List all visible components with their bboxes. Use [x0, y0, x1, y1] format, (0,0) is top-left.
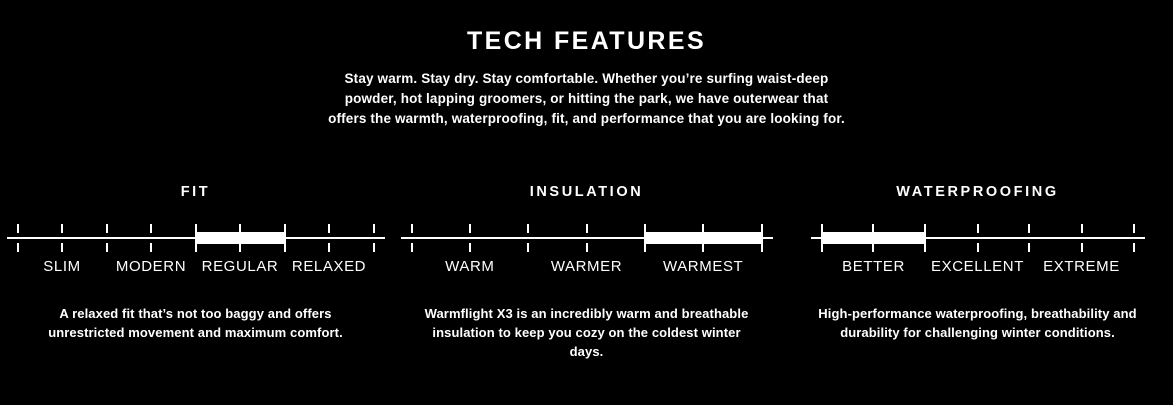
- scale-tick: [1133, 224, 1135, 233]
- scale-fill-edge: [821, 224, 823, 252]
- fit-scale-track: [18, 224, 374, 252]
- scale-tick: [150, 224, 152, 233]
- scale-tick: [1081, 243, 1083, 252]
- scale-tick: [1028, 224, 1030, 233]
- fit-scale-labels: SLIMMODERNREGULARRELAXED: [18, 258, 374, 280]
- page-title: TECH FEATURES: [0, 26, 1173, 56]
- waterproofing-scale-labels: BETTEREXCELLENTEXTREME: [822, 258, 1134, 280]
- scale-tick: [150, 243, 152, 252]
- scale-tick: [977, 243, 979, 252]
- scale-tick: [586, 224, 588, 233]
- scale-tick: [239, 243, 241, 252]
- scale-tick: [411, 243, 413, 252]
- fit-scale: SLIMMODERNREGULARRELAXED: [0, 224, 391, 282]
- scale-label-warmest[interactable]: WARMEST: [663, 258, 743, 275]
- waterproofing-scale-track: [822, 224, 1134, 252]
- scale-fill-edge: [644, 224, 646, 252]
- feature-title-fit: FIT: [0, 182, 391, 202]
- scale-label-modern[interactable]: MODERN: [116, 258, 186, 275]
- feature-panel-fit: FIT SLIMMODERNREGULARRELAXED A relaxed f…: [0, 182, 391, 342]
- scale-fill-bar[interactable]: [822, 232, 926, 244]
- scale-tick: [61, 224, 63, 233]
- scale-tick: [328, 224, 330, 233]
- scale-tick: [527, 243, 529, 252]
- scale-tick: [373, 243, 375, 252]
- scale-tick: [106, 224, 108, 233]
- scale-tick: [1081, 224, 1083, 233]
- scale-tick: [469, 243, 471, 252]
- scale-fill-bar[interactable]: [645, 232, 762, 244]
- scale-tick: [1028, 243, 1030, 252]
- page-header: TECH FEATURES Stay warm. Stay dry. Stay …: [0, 26, 1173, 129]
- scale-label-extreme[interactable]: EXTREME: [1043, 258, 1120, 275]
- feature-panel-waterproofing: WATERPROOFING BETTEREXCELLENTEXTREME Hig…: [782, 182, 1173, 342]
- scale-label-slim[interactable]: SLIM: [43, 258, 80, 275]
- scale-tick: [872, 243, 874, 252]
- feature-title-waterproofing: WATERPROOFING: [782, 182, 1173, 202]
- scale-tick: [61, 243, 63, 252]
- feature-description-waterproofing: High-performance waterproofing, breathab…: [813, 304, 1143, 342]
- scale-fill-edge: [284, 224, 286, 252]
- scale-tick: [328, 243, 330, 252]
- scale-fill-edge: [924, 224, 926, 252]
- scale-fill-bar[interactable]: [196, 232, 285, 244]
- tech-features-page: TECH FEATURES Stay warm. Stay dry. Stay …: [0, 0, 1173, 405]
- scale-fill-edge: [195, 224, 197, 252]
- scale-tick: [586, 243, 588, 252]
- scale-label-relaxed[interactable]: RELAXED: [292, 258, 366, 275]
- insulation-scale: WARMWARMERWARMEST: [391, 224, 782, 282]
- page-subtitle: Stay warm. Stay dry. Stay comfortable. W…: [327, 69, 847, 129]
- scale-tick: [17, 243, 19, 252]
- feature-description-fit: A relaxed fit that’s not too baggy and o…: [31, 304, 361, 342]
- feature-title-insulation: INSULATION: [391, 182, 782, 202]
- scale-tick: [977, 224, 979, 233]
- scale-tick: [17, 224, 19, 233]
- scale-label-warmer[interactable]: WARMER: [551, 258, 622, 275]
- scale-label-better[interactable]: BETTER: [842, 258, 905, 275]
- scale-tick: [373, 224, 375, 233]
- scale-label-regular[interactable]: REGULAR: [202, 258, 279, 275]
- scale-tick: [702, 243, 704, 252]
- feature-panel-insulation: INSULATION WARMWARMERWARMEST Warmflight …: [391, 182, 782, 361]
- scale-tick: [469, 224, 471, 233]
- scale-tick: [1133, 243, 1135, 252]
- scale-tick: [106, 243, 108, 252]
- scale-tick: [411, 224, 413, 233]
- scale-fill-edge: [761, 224, 763, 252]
- insulation-scale-labels: WARMWARMERWARMEST: [412, 258, 762, 280]
- insulation-scale-track: [412, 224, 762, 252]
- scale-label-warm[interactable]: WARM: [445, 258, 494, 275]
- scale-label-excellent[interactable]: EXCELLENT: [931, 258, 1024, 275]
- scale-tick: [527, 224, 529, 233]
- feature-description-insulation: Warmflight X3 is an incredibly warm and …: [417, 304, 757, 361]
- waterproofing-scale: BETTEREXCELLENTEXTREME: [782, 224, 1173, 282]
- tech-feature-panels: FIT SLIMMODERNREGULARRELAXED A relaxed f…: [0, 182, 1173, 361]
